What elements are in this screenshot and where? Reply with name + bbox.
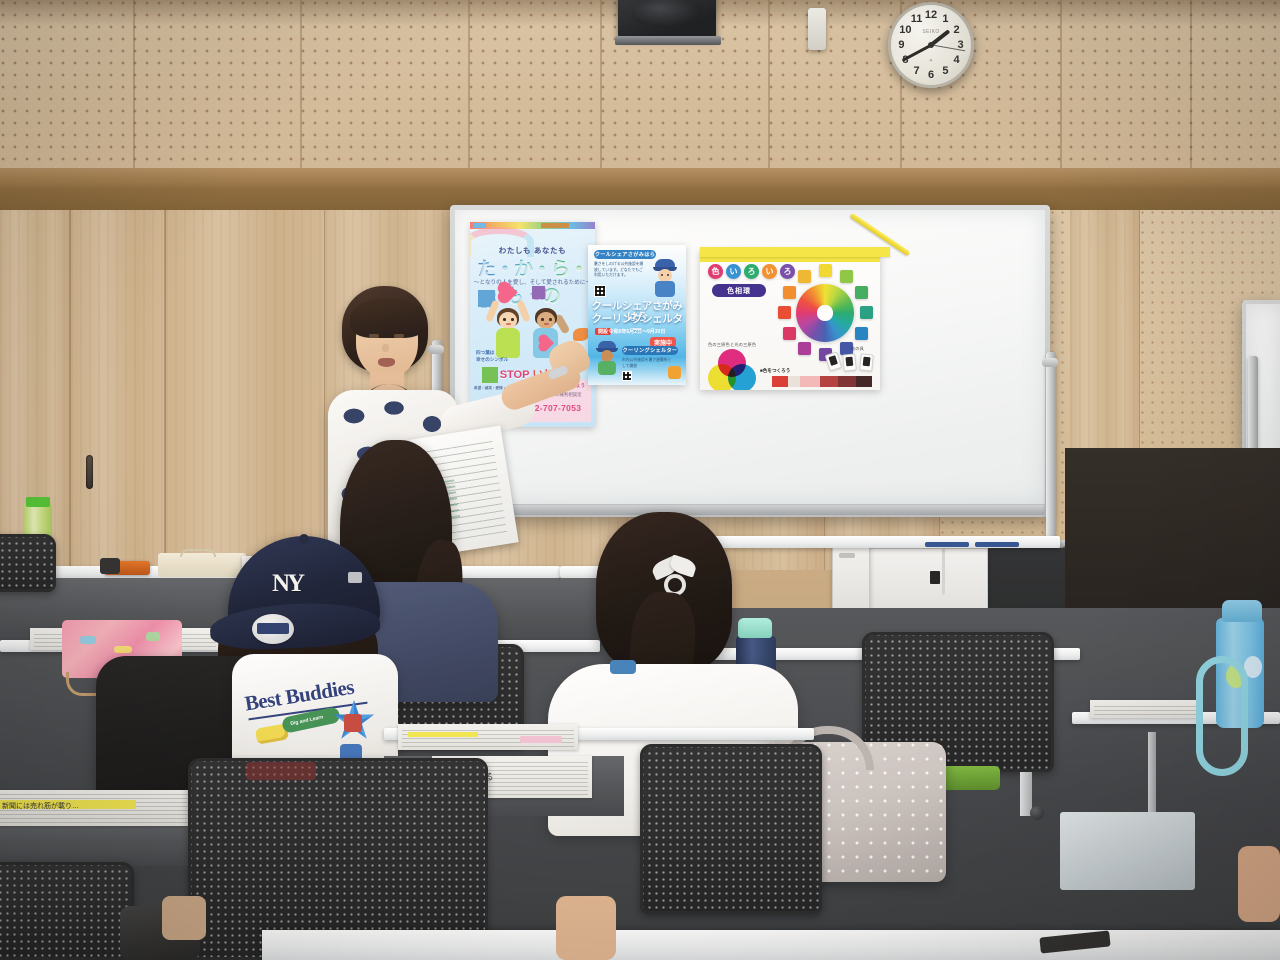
color-swatch bbox=[819, 264, 832, 277]
butterfly-icon bbox=[573, 328, 589, 341]
bottle-strap bbox=[1196, 656, 1248, 776]
poster-pill-shelter: クーリングシェルター bbox=[622, 346, 678, 355]
title-char-3: い bbox=[762, 264, 777, 279]
tshirt-icon-red bbox=[344, 714, 362, 732]
color-chip-row bbox=[772, 376, 872, 387]
clock-num: 5 bbox=[938, 65, 952, 77]
pencil-case-dark[interactable] bbox=[100, 558, 120, 574]
plastic-bag[interactable] bbox=[1060, 812, 1195, 890]
color-swatch bbox=[798, 270, 811, 283]
clock-logo: ✦ bbox=[929, 58, 933, 64]
chair-caster bbox=[1030, 806, 1044, 820]
wood-door-left[interactable] bbox=[70, 210, 165, 570]
clock-num: 2 bbox=[950, 24, 964, 36]
poster-subtitle-badge: 色相環 bbox=[712, 284, 766, 297]
clock-num: 10 bbox=[898, 24, 912, 36]
poster-footer-note: 市内公共施設を暑さ避難所として開放 bbox=[622, 358, 672, 369]
whiteboard-knob-right[interactable] bbox=[1042, 358, 1058, 367]
speaker-icon bbox=[618, 0, 716, 38]
wall-trim-band bbox=[0, 168, 1280, 188]
leg-3 bbox=[1238, 846, 1280, 922]
mascot-police-icon-2 bbox=[594, 341, 620, 377]
title-char-0: 色 bbox=[708, 264, 723, 279]
color-swatch bbox=[783, 327, 796, 340]
poster-body-text: 暑さをしのげる公共施設を開放しています。どなたでもご利用いただけます。 bbox=[594, 262, 646, 279]
cap-button bbox=[299, 534, 309, 544]
magnet-tape-top[interactable] bbox=[700, 247, 890, 257]
qr-code-icon-2 bbox=[622, 371, 632, 381]
clock-brand: SEIKO bbox=[922, 29, 939, 35]
color-swatch bbox=[778, 306, 791, 319]
chair-back-left[interactable] bbox=[0, 534, 56, 592]
clover-icon bbox=[532, 286, 545, 299]
color-swatch bbox=[840, 270, 853, 283]
cap-logo-ny: NY bbox=[272, 570, 308, 600]
poster-note-right: 絵の具 bbox=[851, 346, 864, 352]
wall-clock: 12 1 2 3 4 5 6 7 8 9 10 11 SEIKO ✦ bbox=[888, 2, 974, 88]
color-swatch bbox=[798, 342, 811, 355]
color-swatch bbox=[855, 327, 868, 340]
presenter-nose bbox=[382, 344, 389, 352]
venn-diagram bbox=[708, 349, 756, 389]
pink-marker[interactable] bbox=[520, 736, 562, 743]
mascot-police-icon bbox=[650, 259, 680, 299]
color-wheel-graphic bbox=[796, 284, 854, 342]
poster-icon-badge bbox=[668, 366, 681, 379]
clock-num: 1 bbox=[938, 13, 952, 25]
door-handle-left[interactable] bbox=[86, 455, 93, 489]
paint-card-icon bbox=[842, 353, 857, 371]
clock-num: 9 bbox=[894, 39, 908, 51]
poster-header-pill: クールシェアさがみはら bbox=[594, 250, 656, 259]
clock-num: 4 bbox=[950, 54, 964, 66]
wood-column-right bbox=[1070, 210, 1140, 460]
desk-foreground bbox=[262, 930, 1280, 960]
presenter-mouth bbox=[378, 358, 395, 367]
desk-leg-right bbox=[1148, 732, 1156, 812]
newspaper-front-left[interactable]: 新聞には売れ筋が載り… bbox=[0, 790, 204, 826]
cap-sticker bbox=[252, 614, 294, 644]
color-swatch bbox=[855, 286, 868, 299]
cabinet-cable bbox=[942, 549, 946, 595]
chair-front-right[interactable] bbox=[640, 744, 822, 914]
dark-partition bbox=[1065, 448, 1280, 618]
color-swatch bbox=[783, 286, 796, 299]
presenter-eye-l bbox=[369, 334, 379, 338]
newspaper-highlight-text: 新聞には売れ筋が載り… bbox=[2, 801, 79, 811]
clock-num: 7 bbox=[910, 65, 924, 77]
chair-front-far-left[interactable] bbox=[0, 862, 134, 960]
clock-center-pin bbox=[928, 42, 934, 48]
title-char-2: ろ bbox=[744, 264, 759, 279]
bottle-cap[interactable] bbox=[26, 497, 50, 507]
leg-2 bbox=[556, 896, 616, 960]
leg bbox=[162, 896, 206, 940]
bottle-cap-blue[interactable] bbox=[1222, 600, 1262, 622]
presenter-fringe bbox=[350, 298, 426, 338]
chair-cushion-red bbox=[246, 762, 316, 780]
title-char-4: ろ bbox=[780, 264, 795, 279]
poster-corner-tag-right bbox=[541, 223, 569, 228]
color-swatch bbox=[860, 306, 873, 319]
marker-blue-2[interactable] bbox=[975, 542, 1019, 547]
clock-num: 12 bbox=[924, 9, 938, 21]
classroom-photo: 12 1 2 3 4 5 6 7 8 9 10 11 SEIKO ✦ bbox=[0, 0, 1280, 960]
poster-color-wheel: 色 い ろ い ろ 色相環 色の三原色と光の三原色 ■色をつくろう 絵の具 bbox=[700, 250, 880, 390]
paint-card-icon bbox=[859, 353, 874, 371]
cabinet-label bbox=[930, 571, 940, 584]
clock-num: 6 bbox=[924, 69, 938, 81]
poster-note-bottom: ■色をつくろう bbox=[760, 368, 790, 374]
newspaper-right[interactable] bbox=[1090, 700, 1200, 718]
shirt-collar-tag bbox=[610, 660, 636, 674]
wall-sensor-box bbox=[808, 8, 826, 50]
qr-code-icon bbox=[594, 285, 606, 297]
marker-blue[interactable] bbox=[925, 542, 969, 547]
cap-brand-patch bbox=[348, 572, 362, 583]
whiteboard-leg-right bbox=[1046, 352, 1056, 542]
poster-note-left: 色の三原色と光の三原色 bbox=[708, 342, 756, 348]
clock-num: 11 bbox=[910, 13, 924, 25]
wood-door-right[interactable] bbox=[165, 210, 325, 570]
poster-subtitle: 〜となりの人を愛し、そして愛されるために〜 bbox=[470, 278, 595, 286]
poster-title-colors: 色 い ろ い ろ bbox=[708, 264, 795, 279]
poster-dateline: 令和6年6月2日〜9月30日 bbox=[588, 328, 686, 335]
presenter-eye-r bbox=[394, 334, 404, 338]
title-char-1: い bbox=[726, 264, 741, 279]
poster-cool-share: クールシェアさがみはら 暑さをしのげる公共施設を開放しています。どなたでもご利用… bbox=[588, 245, 686, 385]
